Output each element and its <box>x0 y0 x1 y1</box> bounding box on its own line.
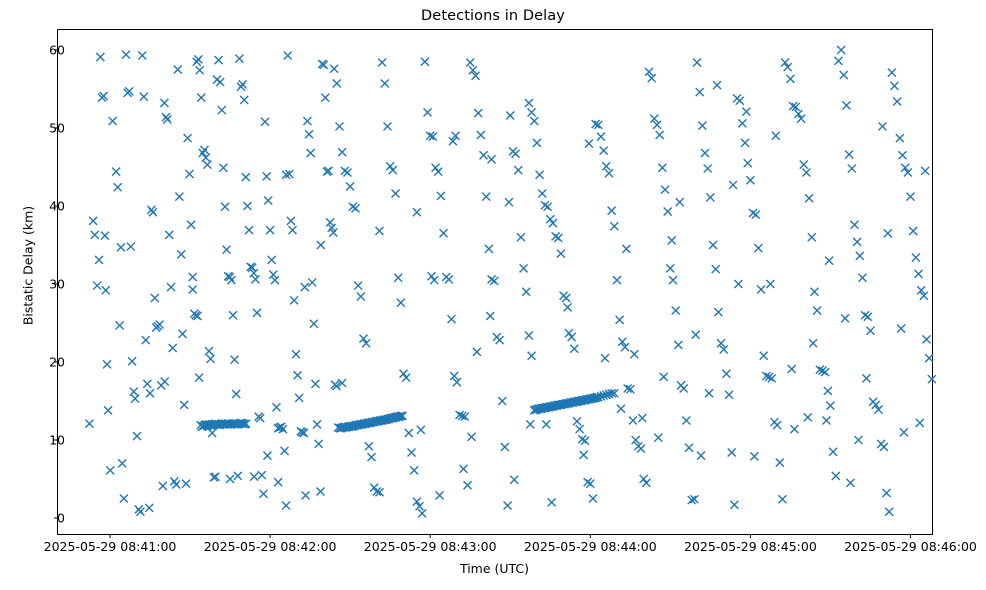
x-tick-label: 2025-05-29 08:41:00 <box>44 539 177 554</box>
y-tick-label: 30 <box>49 277 65 292</box>
y-tick-label: 60 <box>49 43 65 58</box>
matplotlib-figure: Detections in Delay 2025-05-29 08:41:002… <box>0 0 986 590</box>
x-tick-label: 2025-05-29 08:45:00 <box>684 539 817 554</box>
x-tick-label: 2025-05-29 08:42:00 <box>204 539 337 554</box>
x-tick-label: 2025-05-29 08:44:00 <box>524 539 657 554</box>
x-tick-label: 2025-05-29 08:46:00 <box>844 539 977 554</box>
data-markers <box>85 46 935 517</box>
y-tick-label: 0 <box>57 511 65 526</box>
y-axis-label: Bistatic Delay (km) <box>21 146 36 386</box>
x-tick-label: 2025-05-29 08:43:00 <box>364 539 497 554</box>
scatter-plot-canvas <box>0 0 986 590</box>
x-axis-label: Time (UTC) <box>57 561 932 576</box>
y-tick-label: 20 <box>49 355 65 370</box>
y-tick-label: 10 <box>49 433 65 448</box>
y-tick-label: 40 <box>49 199 65 214</box>
y-tick-label: 50 <box>49 121 65 136</box>
